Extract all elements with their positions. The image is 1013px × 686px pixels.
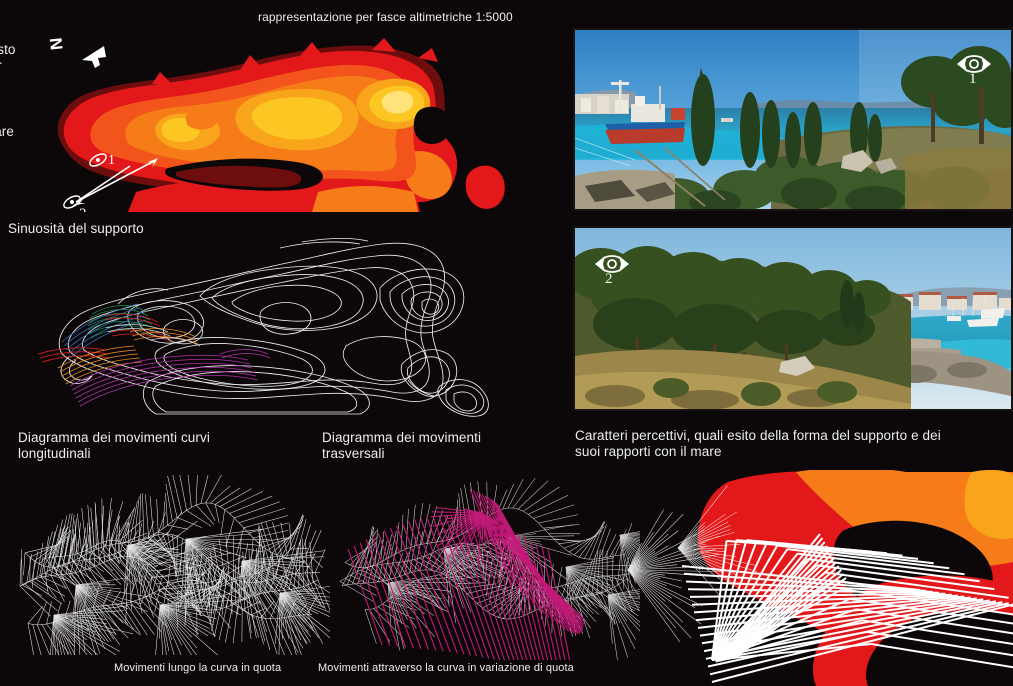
diagram-transversal-label: Diagramma dei movimenti trasversali — [322, 430, 552, 462]
longitudinal-movement-diagram — [10, 475, 330, 655]
poster-canvas: rappresentazione per fasce altimetriche … — [0, 0, 1013, 686]
hypsometric-map: 1 2 — [0, 22, 520, 212]
contour-map — [10, 236, 520, 418]
caption-longitudinal: Movimenti lungo la curva in quota — [114, 662, 281, 675]
hybrid-movement-heatmap — [620, 470, 1013, 686]
viewpoint-eye-1-icon: 1 — [951, 52, 997, 86]
viewpoint-eye-1-label: 1 — [969, 71, 977, 88]
sinuosita-label: Sinuosità del supporto — [8, 221, 144, 237]
viewpoint-label-2: 2 — [79, 206, 87, 212]
viewpoint-eye-2-label: 2 — [605, 271, 613, 288]
viewpoint-eye-2-icon: 2 — [589, 252, 635, 286]
diagram-longitudinal-label: Diagramma dei movimenti curvi longitudin… — [18, 430, 308, 462]
photo-viewpoint-2: 2 — [573, 226, 1013, 411]
caption-transversal: Movimenti attraverso la curva in variazi… — [318, 662, 574, 675]
photo-viewpoint-1: 1 — [573, 28, 1013, 211]
transversal-movement-diagram — [320, 475, 640, 660]
perceptual-characters-label: Caratteri percettivi, quali esito della … — [575, 428, 1007, 460]
viewpoint-label-1: 1 — [108, 153, 115, 168]
